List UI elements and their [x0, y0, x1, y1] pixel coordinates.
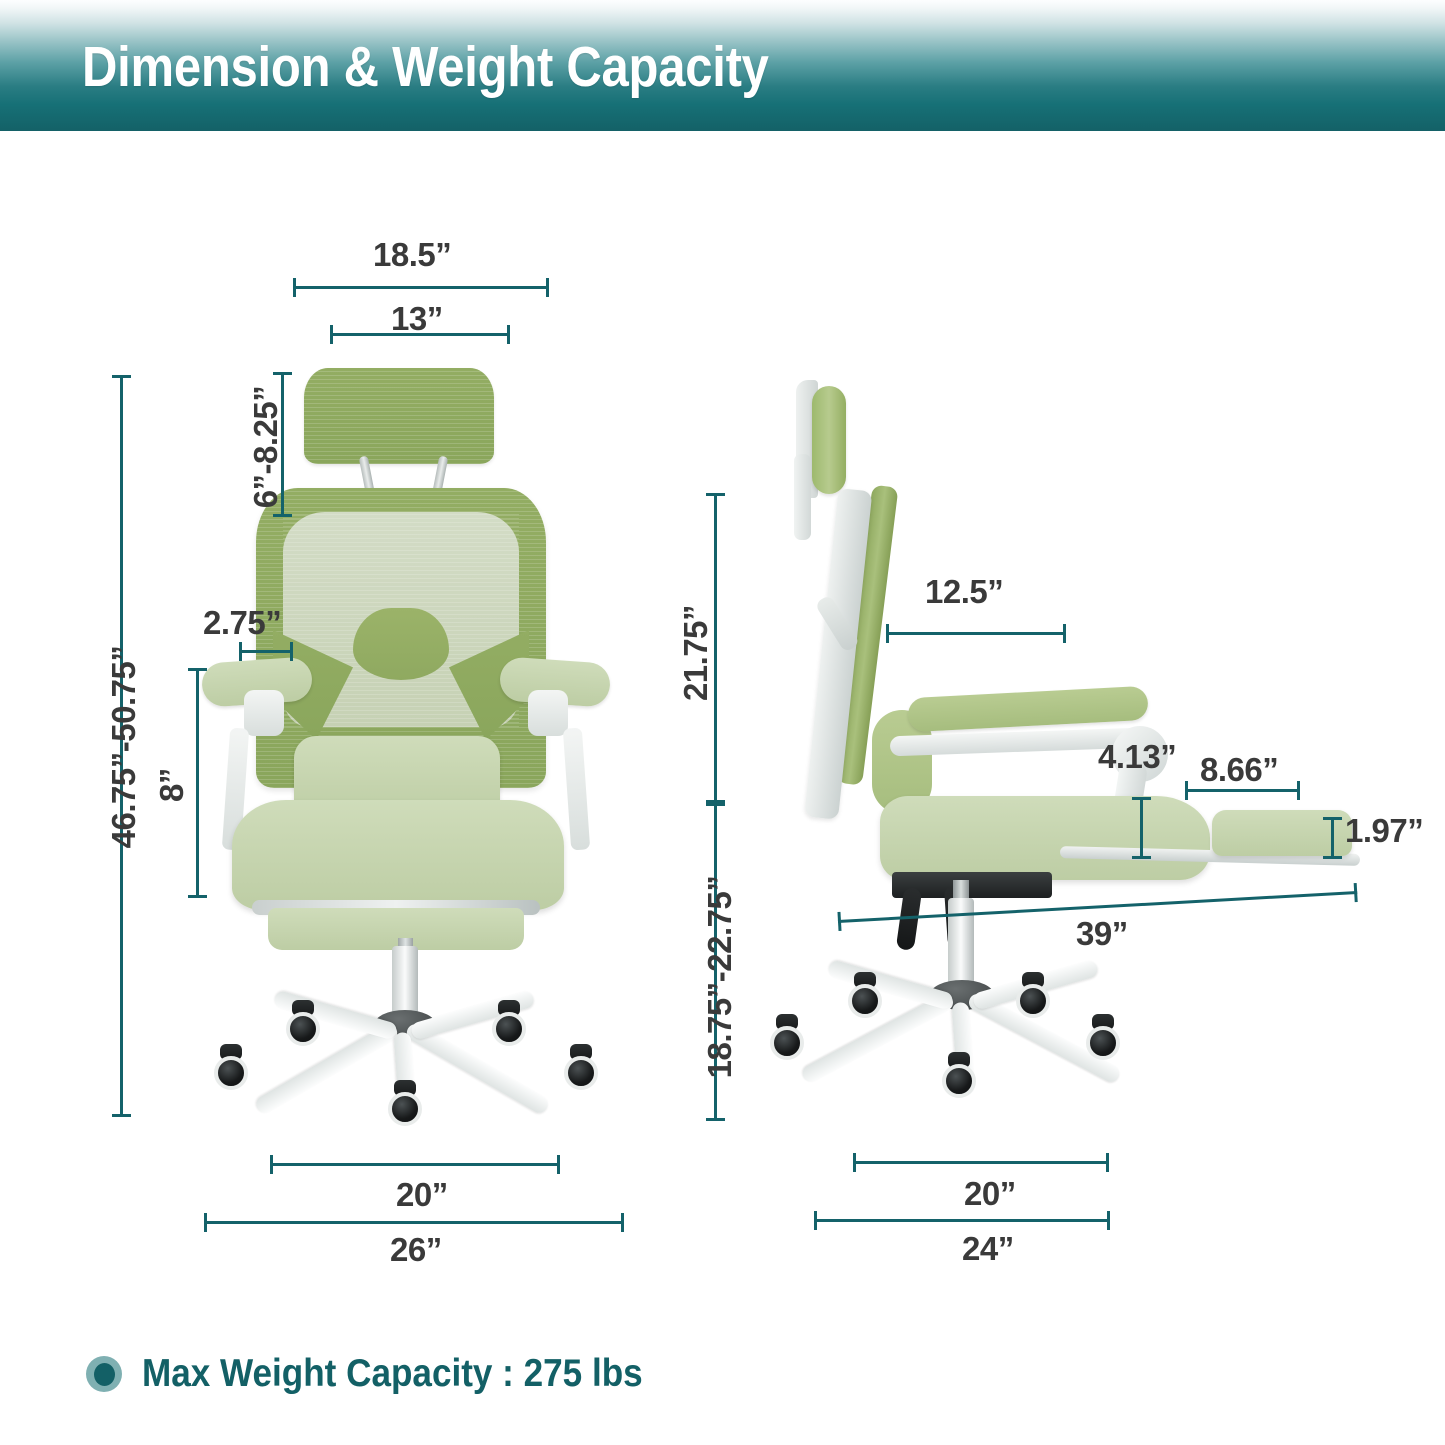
caster-right-inner — [486, 1006, 532, 1050]
dimlabel-total-depth: 39” — [1076, 915, 1128, 953]
headrest-stem-side — [794, 454, 811, 540]
dimline-armrest-height — [196, 668, 199, 898]
dimlabel-footrest-length: 8.66” — [1200, 751, 1278, 789]
armrest-joint-right — [528, 690, 568, 736]
caster-side-right-inner — [1010, 978, 1056, 1022]
dimline-seat-width-front — [270, 1163, 560, 1166]
dimline-seat-depth-side — [853, 1161, 1109, 1164]
dimlabel-armrest-width: 2.75” — [203, 604, 281, 642]
caster-left-inner — [280, 1006, 326, 1050]
dimlabel-overall-height: 46.75”-50.75” — [105, 537, 143, 957]
side-view-chair-illustration — [760, 380, 1380, 1140]
caster-side-center — [936, 1058, 982, 1102]
max-weight-capacity-row: Max Weight Capacity : 275 lbs — [86, 1352, 698, 1396]
headrest-front — [304, 368, 494, 464]
dimline-armrest-width — [239, 650, 293, 653]
dimline-backrest-depth — [886, 632, 1066, 635]
dimline-base-width-front — [204, 1221, 624, 1224]
caster-front-center — [382, 1086, 428, 1130]
dimline-overall-width — [293, 286, 549, 289]
page-header-banner: Dimension & Weight Capacity — [0, 0, 1445, 131]
dimlabel-backrest-depth: 12.5” — [925, 573, 1003, 611]
dimlabel-seat-depth-side: 20” — [964, 1175, 1016, 1213]
dimlabel-base-depth-side: 24” — [962, 1230, 1014, 1268]
caster-side-left-inner — [842, 978, 888, 1022]
seat-cushion-side — [880, 796, 1210, 880]
dimline-footrest-length — [1185, 789, 1300, 792]
dimlabel-backrest-height: 21.75” — [677, 518, 715, 788]
dimlabel-footrest-thickness: 1.97” — [1345, 812, 1423, 850]
max-weight-capacity-text: Max Weight Capacity : 275 lbs — [142, 1352, 643, 1396]
armrest-post-right — [563, 727, 590, 850]
armrest-joint-left — [244, 690, 284, 736]
dimlabel-headrest-height: 6”-8.25” — [247, 327, 285, 567]
dimlabel-headrest-width: 13” — [391, 300, 443, 338]
armrest-pad-side — [907, 686, 1148, 733]
dimlabel-seat-thickness: 4.13” — [1098, 738, 1176, 776]
dimlabel-seat-width-front: 20” — [396, 1176, 448, 1214]
headrest-side — [812, 386, 846, 494]
dimline-footrest-thickness — [1331, 817, 1334, 859]
caster-right-outer — [558, 1050, 604, 1094]
page-title: Dimension & Weight Capacity — [82, 34, 769, 100]
dimlabel-seat-height: 18.75”-22.75” — [701, 767, 739, 1187]
filled-circle-icon — [86, 1356, 122, 1392]
footrest-pad-front — [268, 908, 524, 950]
dimline-base-depth-side — [814, 1219, 1110, 1222]
dimlabel-base-width-front: 26” — [390, 1231, 442, 1269]
caster-left-outer — [208, 1050, 254, 1094]
backrest-mesh-panel — [283, 512, 519, 727]
seat-cushion-front — [232, 800, 564, 910]
caster-side-right-outer — [1080, 1020, 1126, 1064]
dimlabel-overall-width: 18.5” — [373, 236, 451, 274]
dimline-seat-thickness — [1140, 797, 1143, 859]
caster-side-left-outer — [764, 1020, 810, 1064]
dimlabel-armrest-height: 8” — [153, 737, 191, 833]
